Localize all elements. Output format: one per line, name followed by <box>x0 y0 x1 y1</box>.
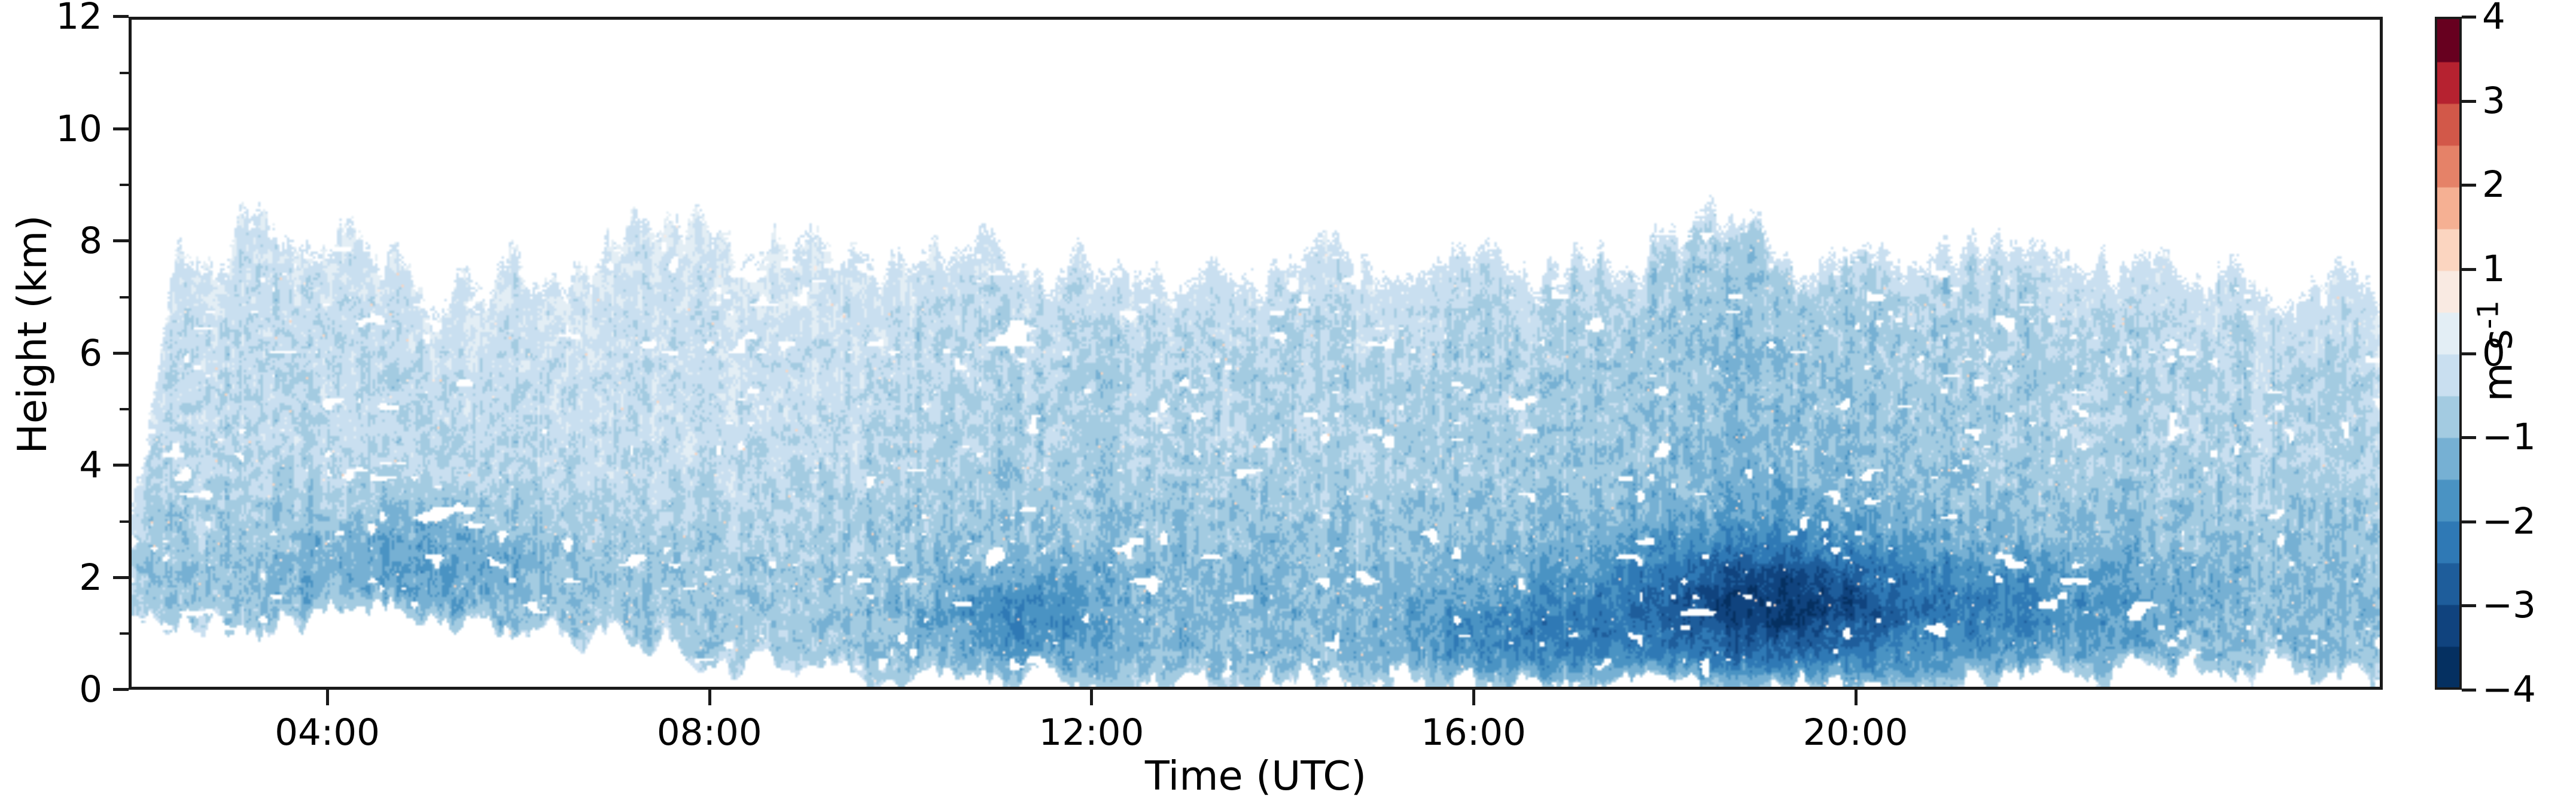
y-tick-label: 2 <box>79 555 102 601</box>
y-tick-mark <box>113 127 129 130</box>
y-tick-minor-mark <box>120 184 129 186</box>
doppler-velocity-field <box>132 20 2380 687</box>
x-tick-mark <box>326 690 329 705</box>
y-tick-label: 8 <box>79 218 102 264</box>
figure-root: 024681012 Height (km) 04:0008:0012:0016:… <box>0 0 2576 807</box>
y-tick-mark <box>113 576 129 579</box>
colorbar-unit-exponent: -1 <box>2471 300 2505 329</box>
x-tick-label: 04:00 <box>275 711 380 754</box>
x-tick-mark <box>708 690 711 705</box>
colorbar-tick-label: −3 <box>2482 582 2536 629</box>
y-tick-mark <box>113 464 129 467</box>
y-axis-label: Height (km) <box>9 35 56 634</box>
y-tick-label: 10 <box>56 106 102 153</box>
x-tick-label: 16:00 <box>1421 711 1526 754</box>
y-tick-label: 0 <box>79 666 102 713</box>
colorbar-tick-mark <box>2462 100 2476 103</box>
colorbar-tick-mark <box>2462 604 2476 607</box>
x-tick-label: 20:00 <box>1803 711 1908 754</box>
y-tick-mark <box>113 688 129 691</box>
y-tick-label: 6 <box>79 330 102 377</box>
colorbar-canvas <box>2437 19 2459 687</box>
colorbar-tick-label: 4 <box>2482 0 2505 40</box>
colorbar-tick-label: 3 <box>2482 78 2505 124</box>
colorbar-tick-mark <box>2462 689 2476 692</box>
heatmap-plot-area <box>129 17 2383 690</box>
colorbar-unit-text: m s <box>2475 329 2522 401</box>
y-tick-minor-mark <box>120 296 129 299</box>
y-tick-mark <box>113 352 129 355</box>
y-tick-label: 12 <box>56 0 102 40</box>
colorbar-tick-mark <box>2462 16 2476 19</box>
y-tick-minor-mark <box>120 408 129 410</box>
colorbar-gradient <box>2435 17 2462 690</box>
x-axis-label: Time (UTC) <box>129 753 2383 799</box>
y-tick-label: 4 <box>79 442 102 489</box>
colorbar-label: m s-1 <box>2471 172 2521 531</box>
colorbar: −4−3−2−101234 m s-1 <box>2435 17 2576 690</box>
x-tick-mark <box>1855 690 1858 705</box>
y-tick-mark <box>113 15 129 18</box>
y-tick-mark <box>113 239 129 242</box>
x-tick-label: 12:00 <box>1039 711 1144 754</box>
y-tick-minor-mark <box>120 72 129 74</box>
colorbar-tick-label: −4 <box>2482 666 2536 713</box>
y-tick-minor-mark <box>120 632 129 635</box>
x-tick-mark <box>1090 690 1093 705</box>
x-tick-label: 08:00 <box>657 711 762 754</box>
y-tick-minor-mark <box>120 520 129 523</box>
x-tick-mark <box>1472 690 1475 705</box>
